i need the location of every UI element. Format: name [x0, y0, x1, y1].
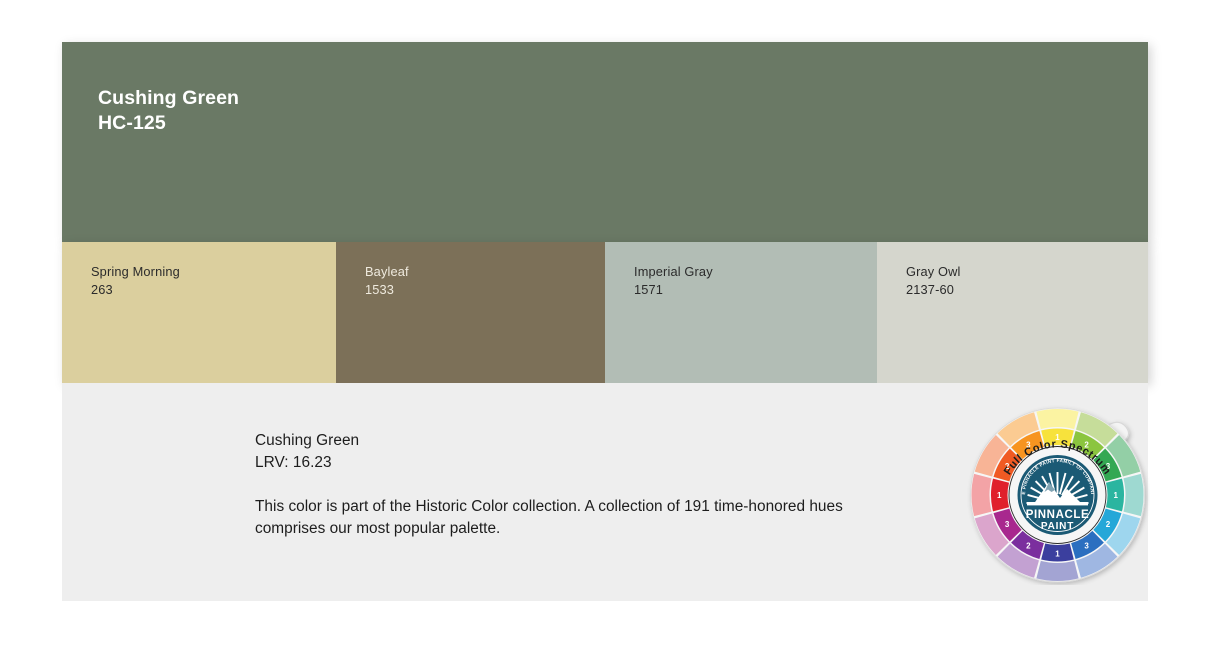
swatch-color-code: 1571 [634, 281, 713, 299]
swatch-color-code: 263 [91, 281, 180, 299]
swatch-label: Bayleaf 1533 [365, 263, 409, 298]
hero-color-name: Cushing Green [98, 86, 239, 111]
brand-name-line1: PINNACLE [1026, 509, 1090, 521]
wheel-segment[interactable] [1036, 409, 1078, 429]
hero-color-code: HC-125 [98, 111, 239, 136]
wheel-segment-number: 2 [1106, 520, 1111, 529]
color-swatch-gray-owl[interactable]: Gray Owl 2137-60 [877, 242, 1148, 383]
pinnacle-paint-color-wheel-logo[interactable]: 123123123123 Full Color Spectrum THE PIN… [965, 400, 1150, 585]
wheel-segment-number: 1 [1114, 491, 1119, 500]
wheel-segment[interactable] [1036, 561, 1078, 581]
hero-color-block: Cushing Green HC-125 [62, 42, 1148, 242]
color-swatch-bayleaf[interactable]: Bayleaf 1533 [336, 242, 605, 383]
swatch-label: Spring Morning 263 [91, 263, 180, 298]
swatch-label: Imperial Gray 1571 [634, 263, 713, 298]
wheel-segment-number: 1 [997, 491, 1002, 500]
badge-divider [1027, 504, 1088, 505]
info-description: This color is part of the Historic Color… [255, 496, 915, 541]
wheel-segment-number: 1 [1055, 549, 1060, 558]
info-color-name: Cushing Green [255, 430, 935, 452]
color-info-panel: Cushing Green LRV: 16.23 This color is p… [62, 383, 1148, 601]
color-swatch-imperial-gray[interactable]: Imperial Gray 1571 [605, 242, 877, 383]
coordinating-colors-row: Spring Morning 263 Bayleaf 1533 Imperial… [62, 242, 1148, 383]
wheel-segment[interactable] [972, 474, 992, 516]
info-lrv-value: LRV: 16.23 [255, 452, 935, 474]
swatch-color-name: Gray Owl [906, 263, 961, 281]
swatch-color-code: 2137-60 [906, 281, 961, 299]
wheel-segment-number: 2 [1026, 541, 1031, 550]
color-info-text: Cushing Green LRV: 16.23 This color is p… [255, 430, 935, 541]
wheel-segment-number: 3 [1084, 541, 1089, 550]
swatch-color-code: 1533 [365, 281, 409, 299]
hero-label: Cushing Green HC-125 [98, 86, 239, 137]
wheel-segment-number: 3 [1005, 520, 1010, 529]
brand-name-line2: PAINT [1041, 521, 1074, 532]
color-swatch-spring-morning[interactable]: Spring Morning 263 [62, 242, 336, 383]
wheel-segment[interactable] [1123, 474, 1143, 516]
color-card: Cushing Green HC-125 Spring Morning 263 … [62, 42, 1148, 383]
swatch-label: Gray Owl 2137-60 [906, 263, 961, 298]
swatch-color-name: Imperial Gray [634, 263, 713, 281]
swatch-color-name: Bayleaf [365, 263, 409, 281]
swatch-color-name: Spring Morning [91, 263, 180, 281]
color-wheel-icon: 123123123123 Full Color Spectrum THE PIN… [965, 400, 1150, 585]
